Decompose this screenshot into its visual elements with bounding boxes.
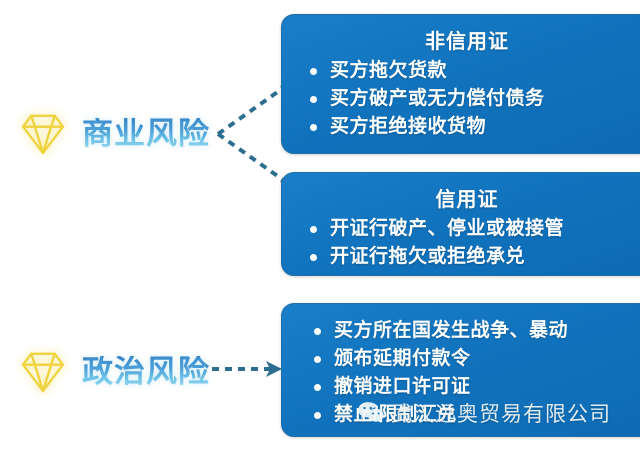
info-box-non-lc-list: 买方拖欠货款 买方破产或无力偿付债务 买方拒绝接收货物 xyxy=(282,57,640,141)
list-item: 买方破产或无力偿付债务 xyxy=(308,85,640,113)
diamond-gem-icon xyxy=(14,342,72,400)
list-item: 撤销进口许可证 xyxy=(312,373,640,401)
list-item: 禁止/限制汇兑 xyxy=(312,401,640,429)
list-item: 开证行拖欠或拒绝承兑 xyxy=(308,243,640,271)
list-item: 买方拖欠货款 xyxy=(308,57,640,85)
info-box-non-letter-of-credit: 非信用证 买方拖欠货款 买方破产或无力偿付债务 买方拒绝接收货物 xyxy=(281,14,640,154)
category-commercial-risk-label: 商业风险 xyxy=(82,118,210,149)
diamond-gem-icon xyxy=(14,104,72,162)
info-box-letter-of-credit: 信用证 开证行破产、停业或被接管 开证行拖欠或拒绝承兑 xyxy=(281,172,640,276)
category-commercial-risk: 商业风险 xyxy=(14,104,210,162)
info-box-lc-title: 信用证 xyxy=(282,183,640,212)
list-item: 颁布延期付款令 xyxy=(312,345,640,373)
list-item: 买方拒绝接收货物 xyxy=(308,113,640,141)
list-item: 买方所在国发生战争、暴动 xyxy=(312,317,640,345)
category-political-risk-label: 政治风险 xyxy=(82,356,210,387)
info-box-political-list: 买方所在国发生战争、暴动 颁布延期付款令 撤销进口许可证 禁止/限制汇兑 xyxy=(282,304,640,429)
info-box-political-risk: 买方所在国发生战争、暴动 颁布延期付款令 撤销进口许可证 禁止/限制汇兑 xyxy=(281,303,640,437)
infographic-canvas: 商业风险 非信用证 买方拖欠货款 买方破产或无力偿付债务 买方拒绝接收货物 信用… xyxy=(0,0,640,450)
list-item: 开证行破产、停业或被接管 xyxy=(308,215,640,243)
info-box-lc-list: 开证行破产、停业或被接管 开证行拖欠或拒绝承兑 xyxy=(282,215,640,271)
arrow-head-right xyxy=(266,361,282,377)
connector-political-arrow xyxy=(210,352,290,386)
info-box-non-lc-title: 非信用证 xyxy=(282,25,640,54)
category-political-risk: 政治风险 xyxy=(14,342,210,400)
